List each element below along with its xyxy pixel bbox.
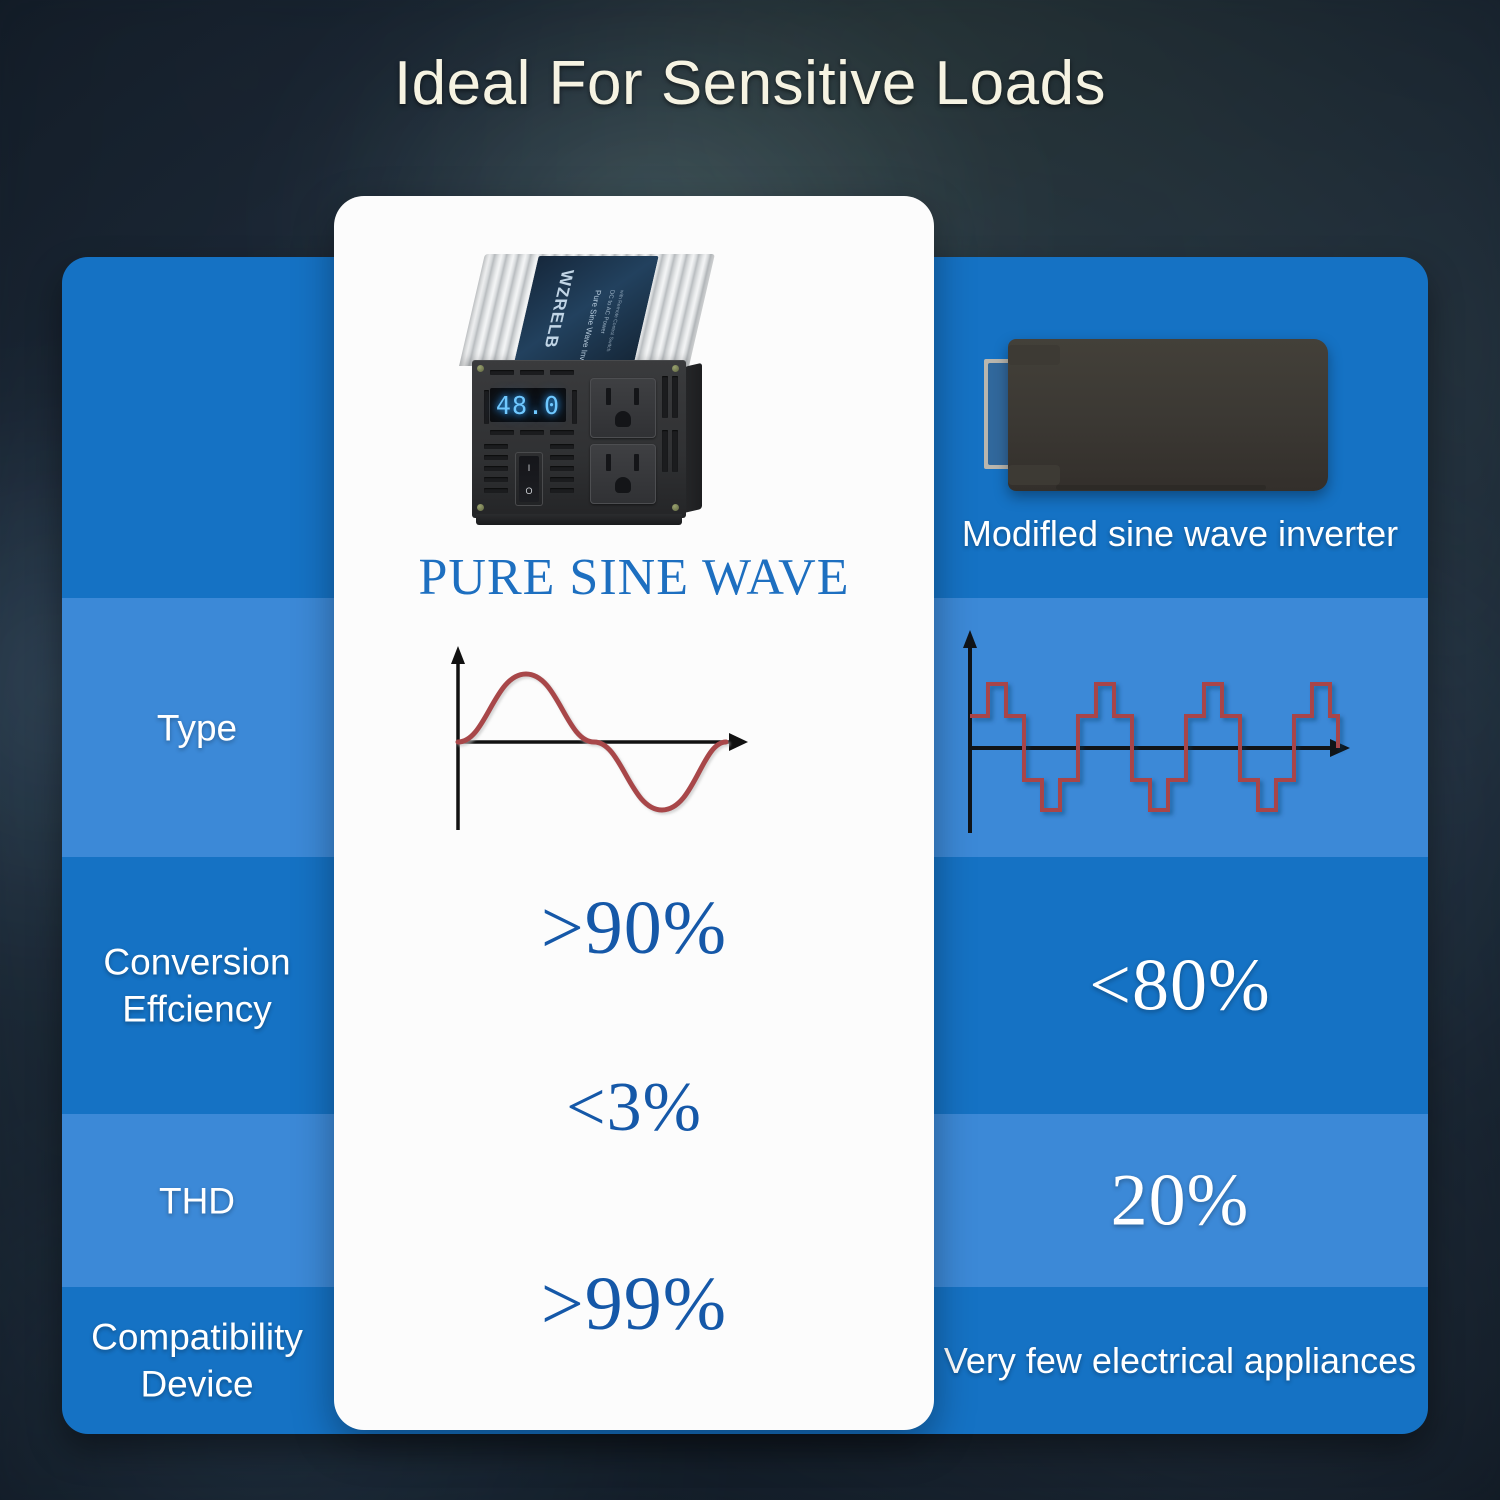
- ac-outlet-top: [590, 378, 656, 438]
- row-label-cell-compatibility: Compatibility Device: [62, 1287, 332, 1434]
- vent-slat: [672, 430, 678, 472]
- vent-slat: [484, 455, 508, 460]
- screw-top-right: [672, 365, 679, 372]
- vent-slat: [484, 477, 508, 482]
- inverter-base-plate: [476, 514, 682, 525]
- row-label-thd: THD: [62, 1177, 332, 1224]
- vent-slat: [672, 376, 678, 418]
- header-cell-left: [62, 257, 332, 598]
- switch-on-label: I: [528, 463, 531, 473]
- vent-slat: [550, 430, 574, 435]
- power-rocker-switch[interactable]: I O: [515, 452, 543, 506]
- inverter-foot: [1056, 485, 1266, 490]
- page-title: Ideal For Sensitive Loads: [0, 48, 1500, 119]
- outlet-prong-right: [634, 454, 639, 471]
- outlet-prong-left: [606, 388, 611, 405]
- vent-slat: [550, 466, 574, 471]
- row-value-cell-thd-right: 20%: [932, 1114, 1428, 1287]
- card-title: PURE SINE WAVE: [334, 548, 934, 607]
- header-cell-right: Modifled sine wave inverter: [932, 257, 1428, 598]
- vent-slat: [490, 430, 514, 435]
- row-value-cell-type-right: [932, 598, 1428, 857]
- pure-sine-inverter-image: WZRELB Pure Sine Wave Inverter DC to AC …: [464, 248, 712, 538]
- row-label-cell-efficiency: Conversion Effciency: [62, 857, 332, 1114]
- vent-slat: [662, 430, 668, 472]
- vent-slat: [662, 376, 668, 418]
- inverter-front-panel: 48.0 I O: [472, 360, 686, 518]
- vent-slat: [550, 455, 574, 460]
- row-value-cell-efficiency-right: <80%: [932, 857, 1428, 1114]
- right-value-efficiency: <80%: [932, 943, 1428, 1028]
- power-rocker-switch-face[interactable]: I O: [519, 456, 539, 502]
- outlet-prong-ground: [615, 411, 631, 427]
- outlet-prong-right: [634, 388, 639, 405]
- switch-off-label: O: [525, 486, 532, 496]
- right-value-compatibility: Very few electrical appliances: [932, 1340, 1428, 1382]
- row-label-efficiency-line2: Effciency: [122, 989, 271, 1030]
- vent-slat: [490, 370, 514, 375]
- vent-slat: [520, 370, 544, 375]
- screw-bot-right: [672, 504, 679, 511]
- row-label-cell-thd: THD: [62, 1114, 332, 1287]
- screw-bot-left: [477, 504, 484, 511]
- vent-slat: [484, 390, 489, 424]
- pure-sine-wave-card: WZRELB Pure Sine Wave Inverter DC to AC …: [334, 196, 934, 1430]
- vent-slat: [520, 430, 544, 435]
- voltage-display: 48.0: [490, 388, 566, 422]
- vent-slat: [484, 488, 508, 493]
- vent-slat: [550, 477, 574, 482]
- outlet-prong-ground: [615, 477, 631, 493]
- vent-slat: [484, 444, 508, 449]
- modified-inverter-image: [972, 339, 1328, 491]
- ac-outlet-bottom: [590, 444, 656, 504]
- row-label-compatibility-line2: Device: [140, 1364, 253, 1405]
- row-label-cell-type: Type: [62, 598, 332, 857]
- row-label-efficiency: Conversion Effciency: [62, 938, 332, 1033]
- vent-slat: [572, 390, 577, 424]
- vent-slat: [550, 488, 574, 493]
- modified-sine-wave-chart: [940, 618, 1360, 848]
- row-value-cell-compatibility-right: Very few electrical appliances: [932, 1287, 1428, 1434]
- right-value-thd: 20%: [932, 1158, 1428, 1243]
- inverter-lip-bottom: [1008, 465, 1060, 485]
- card-value-compatibility: >99%: [334, 1261, 934, 1348]
- row-label-compatibility: Compatibility Device: [62, 1313, 332, 1408]
- modified-inverter-header: Modifled sine wave inverter: [932, 257, 1428, 598]
- card-value-thd: <3%: [334, 1068, 934, 1148]
- pure-sine-wave-chart: [434, 632, 774, 842]
- product-label: WZRELB Pure Sine Wave Inverter DC to AC …: [513, 256, 658, 366]
- card-value-efficiency: >90%: [334, 885, 934, 972]
- vent-slat: [550, 444, 574, 449]
- voltage-display-value: 48.0: [496, 391, 560, 420]
- inverter-lip-top: [1008, 345, 1060, 365]
- screw-top-left: [477, 365, 484, 372]
- comparison-infographic: Ideal For Sensitive Loads: [0, 0, 1500, 1500]
- outlet-prong-left: [606, 454, 611, 471]
- vent-slat: [484, 466, 508, 471]
- vent-slat: [550, 370, 574, 375]
- modified-inverter-caption: Modifled sine wave inverter: [932, 513, 1428, 555]
- row-label-type: Type: [62, 704, 332, 751]
- row-label-efficiency-line1: Conversion: [103, 941, 290, 982]
- inverter-body: [1008, 339, 1328, 491]
- row-label-compatibility-line1: Compatibility: [91, 1316, 303, 1357]
